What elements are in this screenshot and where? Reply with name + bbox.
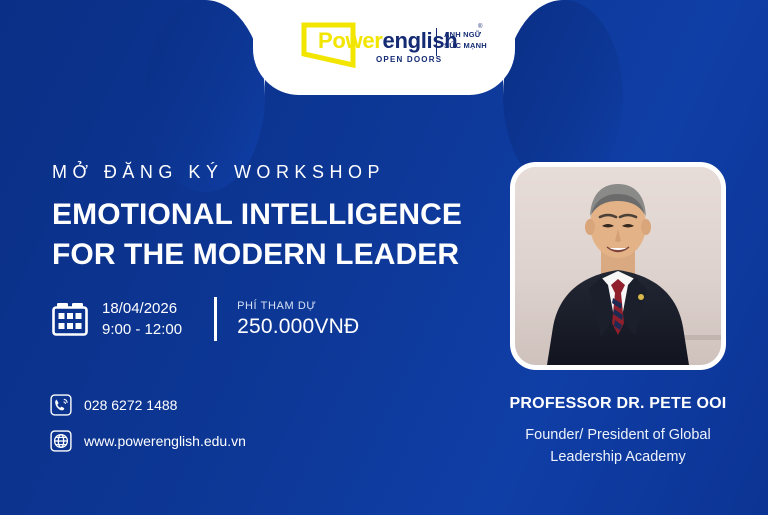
contact-item-website[interactable]: www.powerenglish.edu.vn <box>50 430 246 452</box>
contact-item-phone[interactable]: 028 6272 1488 <box>50 394 246 416</box>
speaker-role-line2: Leadership Academy <box>490 446 746 468</box>
logo-divider <box>436 28 437 56</box>
fee-label: PHÍ THAM DỰ <box>237 300 359 312</box>
title-line-2: FOR THE MODERN LEADER <box>52 235 502 275</box>
speaker-role-line1: Founder/ President of Global <box>490 424 746 446</box>
registered-trademark-icon: ® <box>478 24 482 30</box>
event-time: 9:00 - 12:00 <box>102 319 182 340</box>
speaker-name: PROFESSOR DR. PETE OOI <box>490 395 746 413</box>
contact-website-text: www.powerenglish.edu.vn <box>84 433 246 449</box>
event-date: 18/04/2026 <box>102 298 182 319</box>
contact-phone-text: 028 6272 1488 <box>84 397 177 413</box>
workshop-banner: Powerenglish OPEN DOORS ANH NGỮ SỨC MẠNH… <box>0 0 768 515</box>
kicker-text: MỞ ĐĂNG KÝ WORKSHOP <box>52 162 502 183</box>
logo-vn-line2: SỨC MẠNH <box>444 41 487 50</box>
logo-word-power: Power <box>318 28 383 53</box>
speaker-photo-frame <box>510 162 726 370</box>
phone-icon <box>50 394 72 416</box>
brand-logo[interactable]: Powerenglish OPEN DOORS ANH NGỮ SỨC MẠNH… <box>296 18 484 76</box>
logo-tagline: OPEN DOORS <box>376 55 442 64</box>
headline-block: MỞ ĐĂNG KÝ WORKSHOP EMOTIONAL INTELLIGEN… <box>52 162 502 274</box>
event-date-time: 18/04/2026 9:00 - 12:00 <box>102 298 182 340</box>
info-divider <box>214 297 217 341</box>
logo-vietnamese-text: ANH NGỮ SỨC MẠNH <box>444 29 487 51</box>
contact-list: 028 6272 1488 www.powerenglish.edu.vn <box>50 394 246 466</box>
speaker-photo <box>515 167 721 365</box>
globe-icon <box>50 430 72 452</box>
fee-value: 250.000VNĐ <box>237 315 359 339</box>
event-info-row: 18/04/2026 9:00 - 12:00 PHÍ THAM DỰ 250.… <box>50 297 359 341</box>
speaker-role: Founder/ President of Global Leadership … <box>490 424 746 468</box>
calendar-icon <box>50 299 90 339</box>
speaker-portrait-illustration <box>515 167 721 365</box>
logo-vn-line1: ANH NGỮ <box>444 30 481 39</box>
title-line-1: EMOTIONAL INTELLIGENCE <box>52 195 502 235</box>
speaker-block: PROFESSOR DR. PETE OOI Founder/ Presiden… <box>490 162 746 468</box>
fee-block: PHÍ THAM DỰ 250.000VNĐ <box>237 300 359 339</box>
